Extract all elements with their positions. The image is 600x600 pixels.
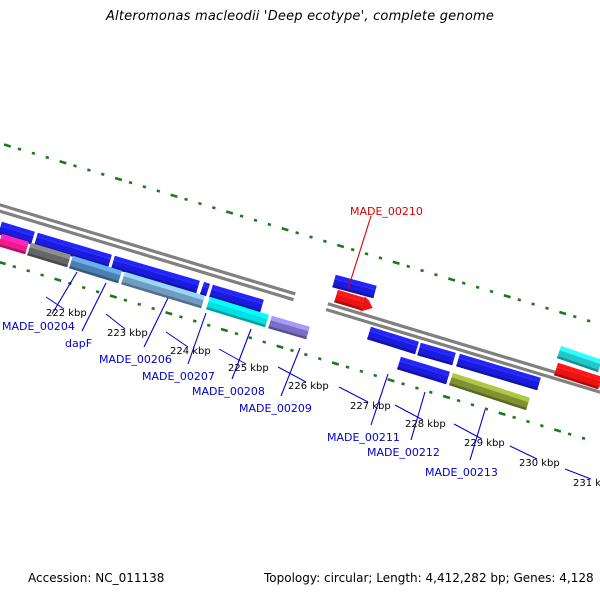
gene-label-made_00213[interactable]: MADE_00213 [425, 466, 498, 479]
ruler-tick-label: 227 kbp [350, 401, 391, 412]
ruler-tick-label: 223 kbp [107, 328, 148, 339]
ruler-tick-label: 228 kbp [405, 419, 446, 430]
ruler-tick-label: 226 kbp [288, 381, 329, 392]
gene-label-made_00210[interactable]: MADE_00210 [350, 205, 423, 218]
genome-canvas [0, 0, 600, 600]
accession-text: Accession: NC_011138 [28, 571, 164, 585]
ruler-tick-label: 230 kbp [519, 458, 560, 469]
gene-feature[interactable] [200, 282, 210, 296]
label-leader-lines [46, 216, 591, 479]
gene-label-made_00212[interactable]: MADE_00212 [367, 446, 440, 459]
gene-label-made_00204[interactable]: MADE_00204 [2, 320, 75, 333]
ruler-tick-label: 225 kbp [228, 363, 269, 374]
ruler-tick-label: 229 kbp [464, 438, 505, 449]
gene-label-made_00208[interactable]: MADE_00208 [192, 385, 265, 398]
gene-label-made_00209[interactable]: MADE_00209 [239, 402, 312, 415]
gene-label-made_00207[interactable]: MADE_00207 [142, 370, 215, 383]
genome-backbone [0, 202, 600, 395]
gene-feature[interactable] [268, 316, 310, 339]
gene-label-made_00211[interactable]: MADE_00211 [327, 431, 400, 444]
ruler-tick-label: 222 kbp [46, 308, 87, 319]
gene-label-dapf[interactable]: dapF [65, 337, 92, 350]
ruler-tick-label: 224 kbp [170, 346, 211, 357]
ruler-tick-label: 231 kbp [573, 478, 600, 489]
genome-stats-text: Topology: circular; Length: 4,412,282 bp… [264, 571, 594, 585]
genome-viewer: Alteromonas macleodii 'Deep ecotype', co… [0, 0, 600, 600]
gene-label-made_00206[interactable]: MADE_00206 [99, 353, 172, 366]
